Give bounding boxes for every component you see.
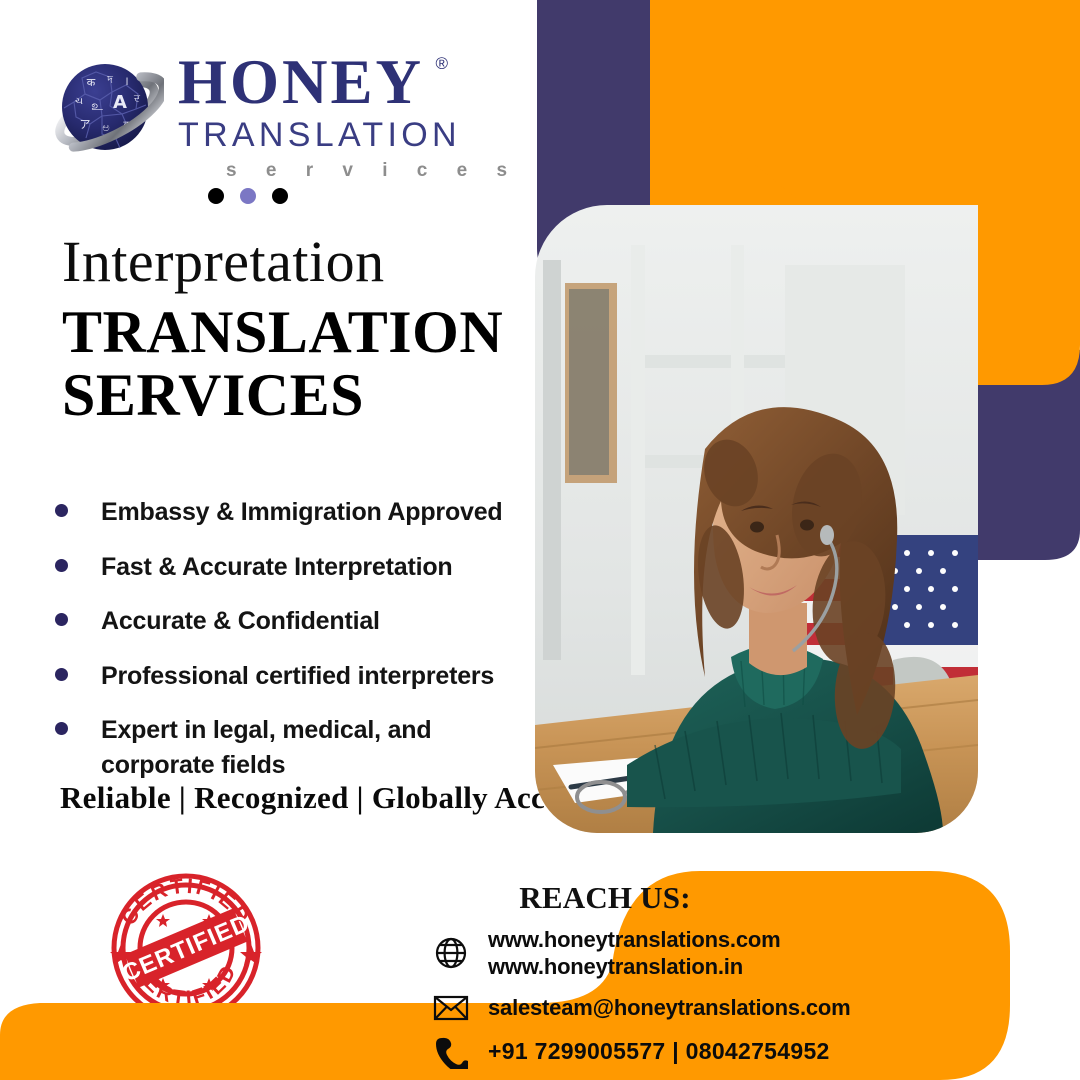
globe-languages-icon: क দ ا ચ உ A ਦ ア ಅ ह xyxy=(52,52,164,170)
phone-number[interactable]: +91 7299005577 | 08042754952 xyxy=(488,1037,830,1066)
tagline: Reliable | Recognized | Globally Accepte… xyxy=(60,780,619,816)
feature-text: Embassy & Immigration Approved xyxy=(101,495,503,530)
feature-list: Embassy & Immigration Approved Fast & Ac… xyxy=(55,495,535,802)
website-row[interactable]: www.honeytranslations.com www.honeytrans… xyxy=(430,926,1050,981)
svg-text:ا: ا xyxy=(126,77,129,88)
globe-icon xyxy=(430,936,472,970)
headline-script: Interpretation xyxy=(62,233,532,291)
svg-text:क: क xyxy=(87,76,96,89)
brand-name-secondary: TRANSLATION xyxy=(178,116,519,155)
list-item: Embassy & Immigration Approved xyxy=(55,495,535,530)
feature-text: Accurate & Confidential xyxy=(101,604,380,639)
feature-text: Expert in legal, medical, and corporate … xyxy=(101,713,446,782)
brand-name-tertiary: s e r v i c e s xyxy=(178,160,519,182)
svg-text:দ: দ xyxy=(106,73,113,86)
brand-name-primary: HONEY xyxy=(178,47,424,117)
phone-row[interactable]: +91 7299005577 | 08042754952 xyxy=(430,1035,1050,1069)
svg-text:ア: ア xyxy=(80,118,91,131)
feature-text: Professional certified interpreters xyxy=(101,659,494,694)
page-title: Interpretation TRANSLATION SERVICES xyxy=(62,233,532,429)
dot-3 xyxy=(272,188,288,204)
bullet-icon xyxy=(55,722,68,735)
email-address[interactable]: salesteam@honeytranslations.com xyxy=(488,994,851,1021)
reach-us-title: REACH US: xyxy=(410,880,800,916)
interpreter-photo xyxy=(535,205,978,833)
website-primary[interactable]: www.honeytranslations.com xyxy=(488,926,780,953)
brand-wordmark: HONEY ® TRANSLATION s e r v i c e s xyxy=(178,46,519,182)
list-item: Professional certified interpreters xyxy=(55,659,535,694)
svg-text:ಅ: ಅ xyxy=(102,121,109,134)
svg-text:ચ: ચ xyxy=(75,96,83,107)
bullet-icon xyxy=(55,559,68,572)
phone-icon xyxy=(430,1035,472,1069)
headline-bold-1: TRANSLATION xyxy=(62,299,532,366)
dot-2 xyxy=(240,188,256,204)
email-row[interactable]: salesteam@honeytranslations.com xyxy=(430,994,1050,1022)
list-item: Accurate & Confidential xyxy=(55,604,535,639)
svg-text:A: A xyxy=(113,92,127,113)
poster-canvas: क দ ا ચ உ A ਦ ア ಅ ह HONEY ® T xyxy=(0,0,1080,1080)
svg-text:ਦ: ਦ xyxy=(133,94,141,104)
brand-logo[interactable]: क দ ا ચ உ A ਦ ア ಅ ह HONEY ® T xyxy=(52,46,519,182)
contact-details: REACH US: www.honeytranslations.com www.… xyxy=(430,880,1050,1069)
dot-1 xyxy=(208,188,224,204)
bullet-icon xyxy=(55,613,68,626)
feature-text: Fast & Accurate Interpretation xyxy=(101,550,452,585)
decorative-dots xyxy=(208,188,288,204)
registered-trademark-icon: ® xyxy=(436,54,449,74)
website-secondary[interactable]: www.honeytranslation.in xyxy=(488,953,780,980)
headline-bold-2: SERVICES xyxy=(62,362,532,429)
envelope-icon xyxy=(430,994,472,1022)
bullet-icon xyxy=(55,504,68,517)
list-item: Fast & Accurate Interpretation xyxy=(55,550,535,585)
bullet-icon xyxy=(55,668,68,681)
svg-text:உ: உ xyxy=(91,99,103,114)
list-item: Expert in legal, medical, and corporate … xyxy=(55,713,535,782)
